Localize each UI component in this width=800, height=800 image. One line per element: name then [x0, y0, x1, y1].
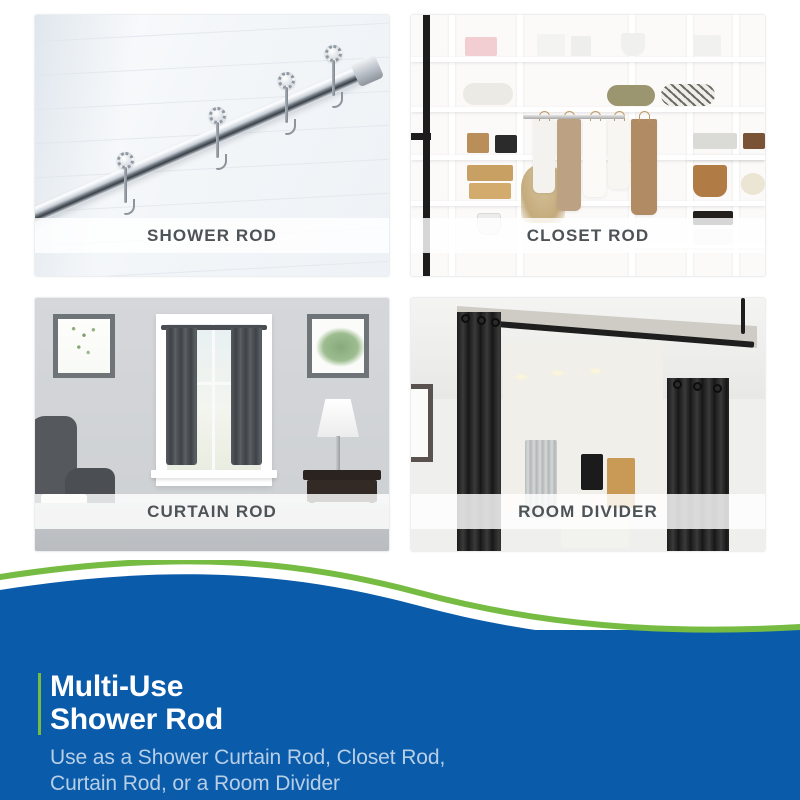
- window-sill: [151, 470, 277, 478]
- curtain-panel-left: [166, 328, 197, 465]
- wood-box-small: [469, 183, 511, 199]
- wall-art-left: [411, 384, 433, 462]
- drape-grommet: [713, 384, 722, 393]
- garment-tan-robe: [631, 119, 657, 215]
- shower-hook-icon: [325, 45, 342, 62]
- panel-label-curtain-rod: CURTAIN ROD: [35, 494, 389, 529]
- garment-white-top: [608, 119, 630, 189]
- banner-title-line2: Shower Rod: [50, 703, 770, 736]
- drape-grommet: [693, 382, 702, 391]
- banner-subtitle-line2: Curtain Rod, or a Room Divider: [50, 771, 770, 797]
- garment-white-blouse: [583, 119, 606, 197]
- woven-handbag: [693, 165, 727, 197]
- lamp-stem: [336, 436, 340, 472]
- drape-grommet: [673, 380, 682, 389]
- straw-hat: [741, 173, 765, 195]
- drape-grommet: [477, 316, 486, 325]
- white-tote: [621, 33, 645, 56]
- panel-closet-rod[interactable]: CLOSET ROD: [410, 14, 766, 277]
- garment-tan-dress: [557, 119, 581, 211]
- black-shoes: [495, 135, 517, 153]
- panel-label-room-divider: ROOM DIVIDER: [411, 494, 765, 529]
- olive-pillow: [607, 85, 655, 106]
- white-bin: [571, 36, 591, 56]
- wall-edge-right: [741, 298, 745, 334]
- patterned-pillow: [661, 84, 715, 106]
- banner-title: Multi-Use Shower Rod: [50, 670, 770, 736]
- curtain-panel-right: [231, 328, 262, 465]
- recessed-light: [515, 374, 528, 380]
- feature-panel-grid: SHOWER ROD: [34, 14, 766, 552]
- shower-hook-icon: [278, 72, 295, 89]
- green-accent-bar: [38, 673, 41, 735]
- pink-box: [465, 37, 497, 56]
- shower-hook-icon: [209, 107, 226, 124]
- banner-title-line1: Multi-Use: [50, 670, 770, 703]
- door-handle: [411, 133, 431, 140]
- wave-divider-graphic: [0, 560, 800, 660]
- banner-subtitle-line1: Use as a Shower Curtain Rod, Closet Rod,: [50, 745, 770, 771]
- white-box: [693, 35, 721, 56]
- recessed-light: [551, 370, 564, 376]
- garment-white-shirt: [533, 119, 555, 193]
- folded-linen: [463, 83, 513, 105]
- banner-content: Multi-Use Shower Rod Use as a Shower Cur…: [38, 670, 770, 797]
- framed-art-monstera: [307, 314, 369, 378]
- white-bin: [537, 34, 565, 56]
- wall-oven: [581, 454, 603, 490]
- woven-basket: [467, 133, 489, 153]
- banner-subtitle: Use as a Shower Curtain Rod, Closet Rod,…: [50, 745, 770, 797]
- panel-label-shower-rod: SHOWER ROD: [35, 218, 389, 253]
- side-table-top: [303, 470, 381, 480]
- closet-hanging-rod: [523, 115, 625, 119]
- wood-box-large: [467, 165, 513, 181]
- panel-shower-rod[interactable]: SHOWER ROD: [34, 14, 390, 277]
- folded-towels: [693, 133, 737, 149]
- recessed-light: [589, 368, 602, 374]
- shower-hook-icon: [117, 152, 134, 169]
- panel-room-divider[interactable]: ROOM DIVIDER: [410, 297, 766, 552]
- drape-grommet: [491, 318, 500, 327]
- panel-label-closet-rod: CLOSET ROD: [411, 218, 765, 253]
- lamp-shade: [317, 399, 359, 437]
- dark-box: [743, 133, 765, 149]
- framed-art-vines: [53, 314, 115, 378]
- panel-curtain-rod[interactable]: CURTAIN ROD: [34, 297, 390, 552]
- drape-grommet: [461, 314, 470, 323]
